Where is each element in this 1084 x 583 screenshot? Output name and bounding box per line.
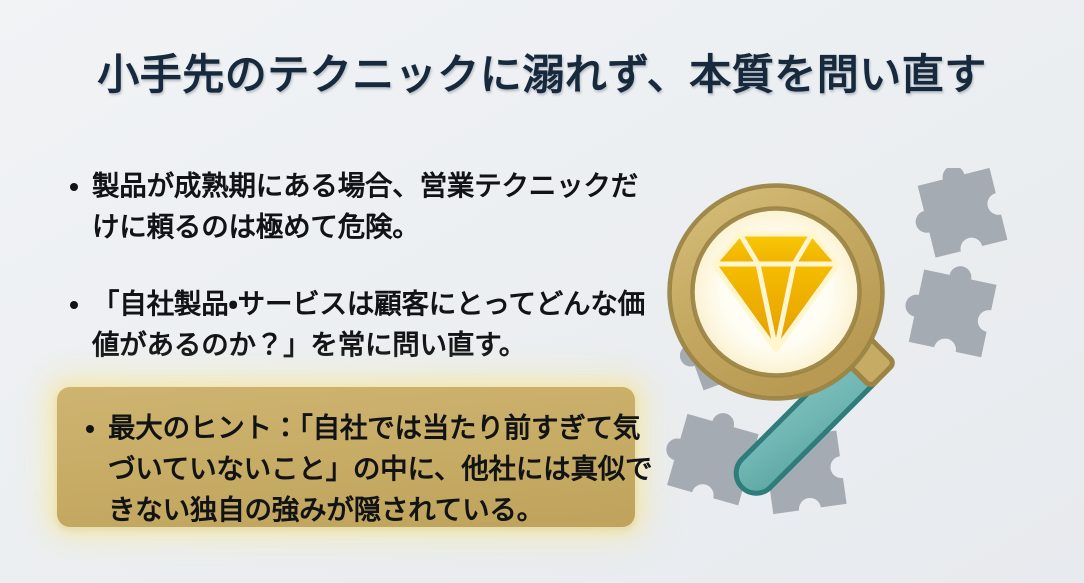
- puzzle-piece-icon: [904, 168, 1007, 260]
- magnifying-glass-illustration: [660, 168, 1080, 568]
- bullet-dot-icon: [70, 301, 78, 309]
- bullet-item-2: 「自社製品・サービスは顧客にとってどんな価値があるのか？」を常に問い直す。: [57, 284, 647, 366]
- bullet-text-1: 製品が成熟期にある場合、営業テクニックだけに頼るのは極めて危険。: [92, 166, 647, 248]
- bullet-text-2: 「自社製品・サービスは顧客にとってどんな価値があるのか？」を常に問い直す。: [92, 284, 647, 366]
- highlight-callout-box: 最大のヒント：「自社では当たり前すぎて気づいていないこと」の中に、他社には真似で…: [57, 387, 635, 527]
- puzzle-piece-icon: [898, 256, 999, 357]
- bullet-item-1: 製品が成熟期にある場合、営業テクニックだけに頼るのは極めて危険。: [57, 166, 647, 248]
- bullet-dot-icon: [70, 183, 78, 191]
- bullet-list: 製品が成熟期にある場合、営業テクニックだけに頼るのは極めて危険。 「自社製品・サ…: [57, 166, 647, 366]
- bullet-text-3: 最大のヒント：「自社では当たり前すぎて気づいていないこと」の中に、他社には真似で…: [108, 408, 660, 531]
- bullet-dot-icon: [86, 425, 94, 433]
- page-title: 小手先のテクニックに溺れず、本質を問い直す: [0, 48, 1084, 102]
- title-area: 小手先のテクニックに溺れず、本質を問い直す: [0, 48, 1084, 102]
- slide-canvas: 小手先のテクニックに溺れず、本質を問い直す 製品が成熟期にある場合、営業テクニッ…: [0, 0, 1084, 583]
- bullet-item-3: 最大のヒント：「自社では当たり前すぎて気づいていないこと」の中に、他社には真似で…: [73, 408, 660, 531]
